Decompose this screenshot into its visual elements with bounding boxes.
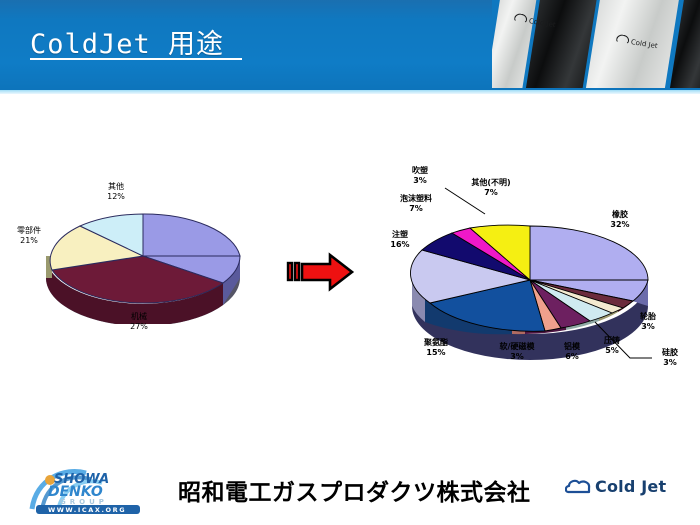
coldjet-machine-photo: Cold Jet Cold Jet [492, 0, 700, 88]
right-pie-label-polyurethane: 聚氨酯 15% [410, 338, 462, 358]
svg-text:GROUP: GROUP [60, 498, 108, 506]
cloud-icon [616, 34, 630, 45]
showa-denko-icax-logo: SHOWA DENKO GROUP WWW.ICAX.ORG [28, 463, 148, 515]
left-pie-label-parts: 零部件 21% [6, 226, 52, 246]
company-name: 昭和電工ガスプロダクツ株式会社 [178, 473, 531, 507]
cloud-icon [514, 13, 528, 24]
page-title: ColdJet 用途 [30, 22, 224, 61]
slide-canvas: Cold Jet Cold Jet ColdJet 用途 [0, 0, 700, 525]
svg-text:WWW.ICAX.ORG: WWW.ICAX.ORG [48, 506, 126, 514]
right-pie-label-silicone: 硅胶 3% [652, 348, 688, 368]
right-pie-label-injection-molding: 注塑 16% [378, 230, 422, 250]
right-pie-label-foam-plastic: 泡沫塑料 7% [380, 194, 452, 214]
right-pie-chart: 吹塑 3% 泡沫塑料 7% 其他(不明) 7% 注塑 16% 橡胶 32% 聚氨… [390, 170, 690, 370]
left-pie-label-machinery: 机械 27% [116, 312, 162, 332]
slide-footer: SHOWA DENKO GROUP WWW.ICAX.ORG 昭和電工ガスプロダ… [0, 455, 700, 525]
right-pie-label-aluminum-mold: 铝模 6% [552, 342, 592, 362]
title-underline [30, 58, 242, 60]
left-pie-chart: 其他 12% 零部件 21% 机械 27% [18, 194, 268, 324]
cloud-icon [565, 479, 591, 495]
slide-body: 其他 12% 零部件 21% 机械 27% [0, 94, 700, 454]
right-pie-label-tire: 轮胎 3% [630, 312, 666, 332]
left-pie-label-other: 其他 12% [96, 182, 136, 202]
left-pie-graphic [18, 194, 268, 324]
right-pie-label-die-casting: 压铸 5% [594, 336, 630, 356]
right-pie-label-rubber: 橡胶 32% [598, 210, 642, 230]
coldjet-logo-footer: Cold Jet [565, 477, 666, 496]
right-pie-label-other-unknown: 其他(不明) 7% [452, 178, 530, 198]
right-pie-label-magnetic-mold: 软/硬磁模 3% [486, 342, 548, 362]
red-right-arrow [286, 250, 356, 294]
right-pie-label-blow-molding: 吹塑 3% [398, 166, 442, 186]
